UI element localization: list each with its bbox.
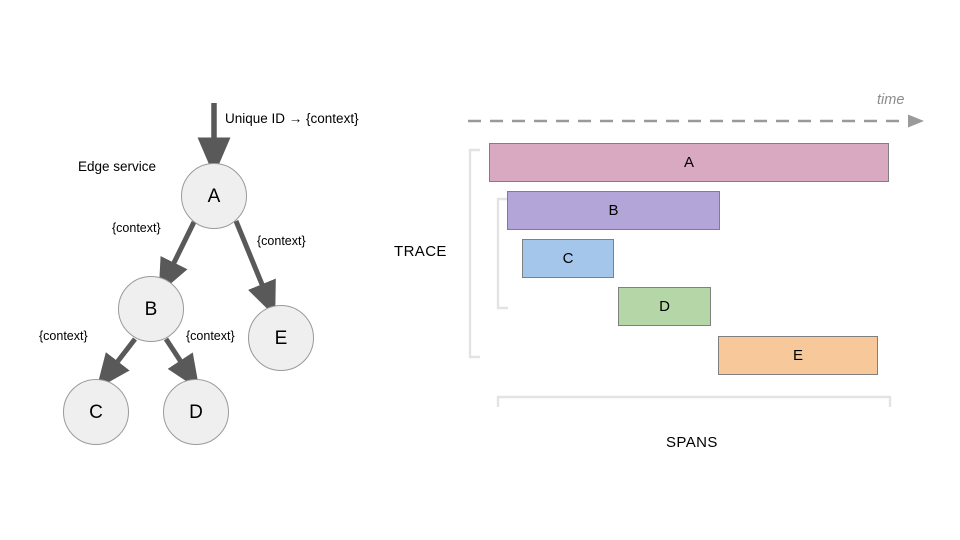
tree-node-b-label: B: [145, 300, 158, 319]
tree-node-e-label: E: [275, 329, 288, 348]
edge-service-label: Edge service: [78, 160, 156, 175]
trace-label: TRACE: [394, 243, 447, 260]
span-bar-b-label: B: [608, 203, 618, 218]
span-bar-c-label: C: [563, 251, 574, 266]
tree-node-c-label: C: [89, 403, 103, 422]
edge-label-a-b: {context}: [112, 222, 161, 236]
span-bar-b[interactable]: B: [507, 191, 720, 230]
tree-node-c[interactable]: C: [63, 379, 129, 445]
span-bar-d-label: D: [659, 299, 670, 314]
diagram-vector-layer: [0, 0, 960, 540]
tree-node-a[interactable]: A: [181, 163, 247, 229]
span-bar-e[interactable]: E: [718, 336, 878, 375]
time-axis-arrowhead: [908, 115, 924, 128]
span-bar-d[interactable]: D: [618, 287, 711, 326]
diagram-canvas: Unique ID → {context} Edge service {cont…: [0, 0, 960, 540]
edge-label-a-e: {context}: [257, 235, 306, 249]
span-bar-e-label: E: [793, 348, 803, 363]
span-bar-a[interactable]: A: [489, 143, 889, 182]
edge-arrow-a-e: [236, 221, 268, 299]
tree-node-a-label: A: [208, 187, 221, 206]
time-axis-label: time: [877, 92, 904, 108]
tree-node-e[interactable]: E: [248, 305, 314, 371]
trace-bracket-outer: [470, 150, 480, 357]
span-bar-c[interactable]: C: [522, 239, 614, 278]
span-bar-a-label: A: [684, 155, 694, 170]
tree-node-d[interactable]: D: [163, 379, 229, 445]
spans-bracket: [498, 397, 890, 407]
edge-label-b-c: {context}: [39, 330, 88, 344]
edge-label-b-d: {context}: [186, 330, 235, 344]
spans-label: SPANS: [666, 434, 718, 451]
tree-node-b[interactable]: B: [118, 276, 184, 342]
edge-arrow-a-b: [167, 222, 194, 277]
tree-node-d-label: D: [189, 403, 203, 422]
edge-arrow-b-c: [108, 339, 135, 374]
edge-arrow-b-d: [166, 339, 189, 374]
entry-context-label: Unique ID → {context}: [225, 112, 359, 127]
